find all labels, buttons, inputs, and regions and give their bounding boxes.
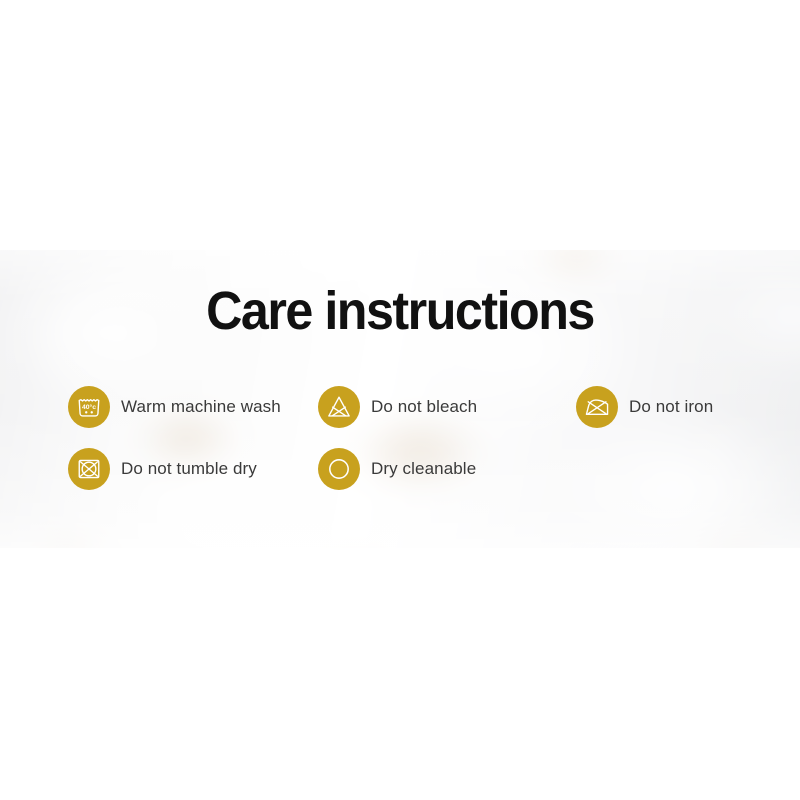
care-item-label: Do not tumble dry <box>121 459 257 479</box>
page-title: Care instructions <box>28 281 772 341</box>
care-item-do-not-tumble-dry: Do not tumble dry <box>68 448 318 490</box>
warm-machine-wash-icon: 40°c <box>68 386 110 428</box>
care-item-label: Do not bleach <box>371 397 477 417</box>
care-item-label: Dry cleanable <box>371 459 476 479</box>
svg-text:40°c: 40°c <box>82 403 96 411</box>
care-instructions-grid: 40°c Warm machine wash <box>68 376 768 500</box>
care-item-do-not-iron: Do not iron <box>576 386 768 428</box>
care-instructions-page: Care instructions 40°c Warm machine wash <box>0 0 800 800</box>
care-instructions-banner: Care instructions 40°c Warm machine wash <box>0 250 800 548</box>
care-item-warm-machine-wash: 40°c Warm machine wash <box>68 386 318 428</box>
care-item-do-not-bleach: Do not bleach <box>318 386 576 428</box>
do-not-bleach-icon <box>318 386 360 428</box>
care-item-dry-cleanable: Dry cleanable <box>318 448 576 490</box>
banner-content: Care instructions 40°c Warm machine wash <box>0 250 800 548</box>
dry-cleanable-icon <box>318 448 360 490</box>
care-item-label: Warm machine wash <box>121 397 281 417</box>
do-not-iron-icon <box>576 386 618 428</box>
care-item-label: Do not iron <box>629 397 713 417</box>
do-not-tumble-dry-icon <box>68 448 110 490</box>
